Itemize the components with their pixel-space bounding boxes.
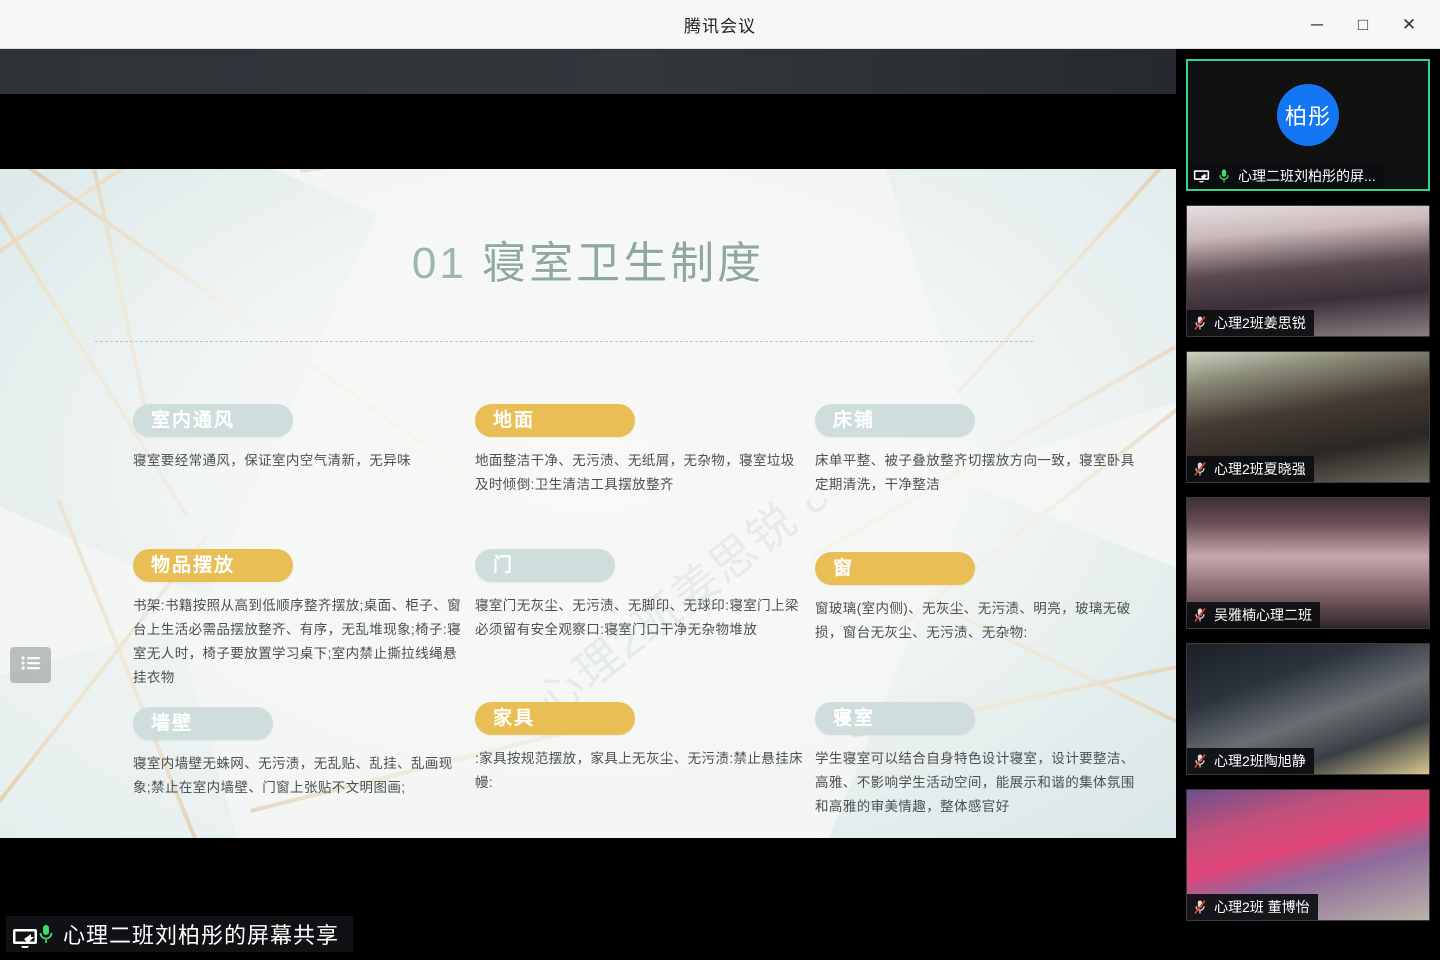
mic-on-icon bbox=[37, 923, 55, 945]
block-label: 门 bbox=[475, 549, 615, 582]
stage-black-band bbox=[0, 144, 1176, 169]
block-label: 地面 bbox=[475, 404, 635, 437]
shared-screen-stage: 01 寝室卫生制度 心理2班姜思锐 8613904891 室内通风 寝室要经常通… bbox=[0, 49, 1176, 960]
mic-off-icon bbox=[1192, 461, 1208, 477]
screen-share-icon bbox=[12, 927, 29, 941]
mic-off-icon bbox=[1192, 753, 1208, 769]
slide-content-columns: 室内通风 寝室要经常通风，保证室内空气清新，无异味 物品摆放 书架:书籍按照从高… bbox=[0, 169, 1176, 838]
block-text: 地面整洁干净、无污渍、无纸屑，无杂物，寝室垃圾及时倾倒:卫生清洁工具摆放整齐 bbox=[475, 449, 805, 497]
presentation-slide: 01 寝室卫生制度 心理2班姜思锐 8613904891 室内通风 寝室要经常通… bbox=[0, 169, 1176, 838]
slide-block: 寝室 学生寝室可以结合自身特色设计寝室，设计要整洁、高雅、不影响学生活动空间，能… bbox=[815, 702, 1145, 819]
slide-block: 门 寝室门无灰尘、无污渍、无脚印、无球印:寝室门上梁必须留有安全观察口:寝室门口… bbox=[475, 549, 805, 642]
participants-panel[interactable]: 柏彤 心理二班刘柏彤的屏... bbox=[1176, 49, 1440, 960]
mic-off-icon bbox=[1192, 607, 1208, 623]
mic-off-icon bbox=[1192, 899, 1208, 915]
participant-name-bar: 心理2班姜思锐 bbox=[1187, 310, 1314, 336]
window-title: 腾讯会议 bbox=[684, 12, 756, 37]
participant-name-bar: 心理2班 董博怡 bbox=[1187, 894, 1318, 920]
participant-tile[interactable]: 柏彤 心理二班刘柏彤的屏... bbox=[1186, 59, 1430, 191]
participant-name: 心理2班姜思锐 bbox=[1214, 313, 1306, 333]
slide-block: 物品摆放 书架:书籍按照从高到低顺序整齐摆放;桌面、柜子、窗台上生活必需品摆放整… bbox=[133, 549, 463, 690]
slide-outline-button[interactable] bbox=[10, 647, 51, 683]
maximize-button[interactable]: □ bbox=[1340, 0, 1386, 49]
participant-name-bar: 心理2班夏晓强 bbox=[1187, 456, 1314, 482]
participant-name-bar: 心理二班刘柏彤的屏... bbox=[1188, 163, 1384, 189]
block-label: 床铺 bbox=[815, 404, 975, 437]
block-text: 床单平整、被子叠放整齐切摆放方向一致，寝室卧具定期清洗，干净整洁 bbox=[815, 449, 1145, 497]
close-button[interactable]: ✕ bbox=[1386, 0, 1432, 49]
avatar-initials: 柏彤 bbox=[1285, 99, 1331, 131]
slide-block: 室内通风 寝室要经常通风，保证室内空气清新，无异味 bbox=[133, 404, 463, 473]
minimize-button[interactable]: ─ bbox=[1294, 0, 1340, 49]
participant-name: 心理二班刘柏彤的屏... bbox=[1238, 166, 1376, 186]
slide-block: 地面 地面整洁干净、无污渍、无纸屑，无杂物，寝室垃圾及时倾倒:卫生清洁工具摆放整… bbox=[475, 404, 805, 497]
participant-name-bar: 吴雅楠心理二班 bbox=[1187, 602, 1320, 628]
block-text: 寝室内墙壁无蛛网、无污渍，无乱贴、乱挂、乱画现象;禁止在室内墙壁、门窗上张贴不文… bbox=[133, 752, 463, 800]
participant-name: 吴雅楠心理二班 bbox=[1214, 605, 1312, 625]
participant-tile[interactable]: 吴雅楠心理二班 bbox=[1186, 497, 1430, 629]
avatar: 柏彤 bbox=[1277, 84, 1339, 146]
participant-name: 心理2班陶旭静 bbox=[1214, 751, 1306, 771]
block-text: 窗玻璃(室内侧)、无灰尘、无污渍、明亮，玻璃无破损，窗台无灰尘、无污渍、无杂物: bbox=[815, 597, 1145, 645]
participant-name-bar: 心理2班陶旭静 bbox=[1187, 748, 1314, 774]
participant-tile[interactable]: 心理2班夏晓强 bbox=[1186, 351, 1430, 483]
block-text: :家具按规范摆放，家具上无灰尘、无污渍:禁止悬挂床幔: bbox=[475, 747, 805, 795]
participant-tile[interactable]: 心理2班陶旭静 bbox=[1186, 643, 1430, 775]
block-text: 寝室门无灰尘、无污渍、无脚印、无球印:寝室门上梁必须留有安全观察口:寝室门口干净… bbox=[475, 594, 805, 642]
participant-name: 心理2班 董博怡 bbox=[1214, 897, 1310, 917]
block-label: 墙壁 bbox=[133, 707, 273, 740]
block-text: 书架:书籍按照从高到低顺序整齐摆放;桌面、柜子、窗台上生活必需品摆放整齐、有序，… bbox=[133, 594, 463, 690]
participant-tile[interactable]: 心理2班姜思锐 bbox=[1186, 205, 1430, 337]
slide-block: 家具 :家具按规范摆放，家具上无灰尘、无污渍:禁止悬挂床幔: bbox=[475, 702, 805, 795]
block-text: 学生寝室可以结合自身特色设计寝室，设计要整洁、高雅、不影响学生活动空间，能展示和… bbox=[815, 747, 1145, 819]
block-label: 室内通风 bbox=[133, 404, 293, 437]
list-outline-icon bbox=[20, 655, 42, 676]
stage-bottom-letterbox: 心理二班刘柏彤的屏幕共享 bbox=[0, 838, 1176, 960]
mic-on-icon bbox=[1216, 168, 1232, 184]
window-title-bar: 腾讯会议 ─ □ ✕ bbox=[0, 0, 1440, 49]
block-label: 家具 bbox=[475, 702, 635, 735]
participant-name: 心理2班夏晓强 bbox=[1214, 459, 1306, 479]
block-label: 物品摆放 bbox=[133, 549, 293, 582]
block-label: 窗 bbox=[815, 552, 975, 585]
screen-share-icon bbox=[1193, 169, 1210, 183]
participant-tile[interactable]: 心理2班 董博怡 bbox=[1186, 789, 1430, 921]
mic-off-icon bbox=[1192, 315, 1208, 331]
slide-block: 窗 窗玻璃(室内侧)、无灰尘、无污渍、明亮，玻璃无破损，窗台无灰尘、无污渍、无杂… bbox=[815, 552, 1145, 645]
window-controls: ─ □ ✕ bbox=[1294, 0, 1440, 49]
share-status-text: 心理二班刘柏彤的屏幕共享 bbox=[63, 918, 339, 950]
share-status-bar: 心理二班刘柏彤的屏幕共享 bbox=[6, 916, 353, 952]
slide-block: 床铺 床单平整、被子叠放整齐切摆放方向一致，寝室卧具定期清洗，干净整洁 bbox=[815, 404, 1145, 497]
slide-block: 墙壁 寝室内墙壁无蛛网、无污渍，无乱贴、乱挂、乱画现象;禁止在室内墙壁、门窗上张… bbox=[133, 707, 463, 800]
block-label: 寝室 bbox=[815, 702, 975, 735]
block-text: 寝室要经常通风，保证室内空气清新，无异味 bbox=[133, 449, 463, 473]
stage-top-letterbox bbox=[0, 49, 1176, 144]
